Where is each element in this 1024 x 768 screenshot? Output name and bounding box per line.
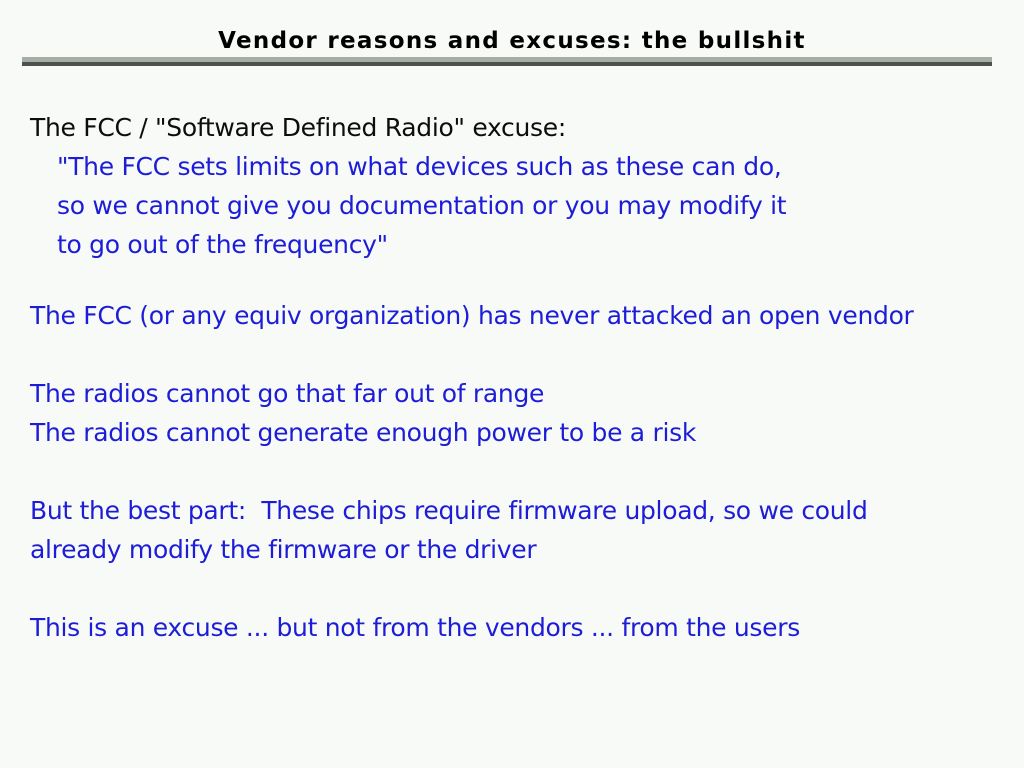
block-spacer — [30, 452, 1005, 491]
block-spacer — [30, 335, 1005, 374]
block-spacer — [30, 569, 1005, 608]
slide-title: Vendor reasons and excuses: the bullshit — [0, 27, 1024, 55]
title-divider-rule — [22, 57, 992, 66]
body-line-conclusion-1: This is an excuse ... but not from the v… — [30, 608, 1005, 647]
body-line-best-2: already modify the firmware or the drive… — [30, 530, 1005, 569]
body-line-radio-2: The radios cannot generate enough power … — [30, 413, 1005, 452]
body-line-never-1: The FCC (or any equiv organization) has … — [30, 296, 1005, 335]
slide-body: The FCC / "Software Defined Radio" excus… — [30, 108, 1005, 647]
text-block-conclusion: This is an excuse ... but not from the v… — [30, 608, 1005, 647]
body-line-quote-3: to go out of the frequency" — [30, 225, 1005, 264]
text-block-best-part: But the best part: These chips require f… — [30, 491, 1005, 569]
text-block-radio-limits: The radios cannot go that far out of ran… — [30, 374, 1005, 452]
body-line-heading: The FCC / "Software Defined Radio" excus… — [30, 108, 1005, 147]
block-spacer — [30, 264, 1005, 296]
presentation-slide: Vendor reasons and excuses: the bullshit… — [0, 0, 1024, 768]
body-line-best-1: But the best part: These chips require f… — [30, 491, 1005, 530]
divider-shadow — [22, 62, 992, 66]
text-block-fcc-excuse: The FCC / "Software Defined Radio" excus… — [30, 108, 1005, 264]
text-block-never-attacked: The FCC (or any equiv organization) has … — [30, 296, 1005, 335]
body-line-quote-1: "The FCC sets limits on what devices suc… — [30, 147, 1005, 186]
body-line-radio-1: The radios cannot go that far out of ran… — [30, 374, 1005, 413]
body-line-quote-2: so we cannot give you documentation or y… — [30, 186, 1005, 225]
